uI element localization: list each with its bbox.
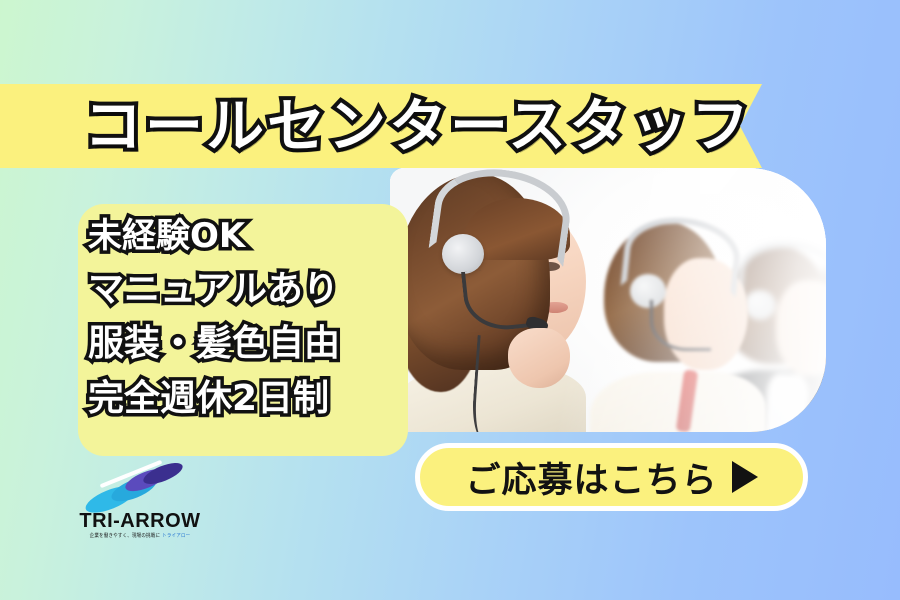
feature-item-2: 服装・髪色自由	[88, 318, 408, 371]
operator-2-figure	[586, 196, 766, 432]
logo-tagline-accent: トライアロー	[162, 532, 190, 539]
company-logo: TRI-ARROW 企業を働きやすく、現場の挑戦に トライアロー	[70, 466, 210, 536]
operator-1-headset-cord	[470, 335, 510, 432]
call-center-photo	[390, 168, 826, 432]
arrow-ellipse-4	[141, 459, 186, 489]
feature-list: 未経験OK マニュアルあり 服装・髪色自由 完全週休2日制	[88, 212, 408, 425]
feature-item-3: 完全週休2日制	[88, 373, 408, 426]
headline-ribbon: コールセンタースタッフ	[0, 84, 762, 168]
logo-wordmark: TRI-ARROW	[70, 510, 210, 533]
page-title: コールセンタースタッフ	[84, 97, 752, 155]
play-triangle-icon	[732, 461, 758, 493]
feature-item-1: マニュアルあり	[88, 264, 408, 317]
operator-1-hand	[508, 328, 570, 388]
operator-3-shirt	[764, 373, 811, 432]
logo-tagline: 企業を働きやすく、現場の挑戦に トライアロー	[72, 532, 208, 540]
operator-1-headset-earcup	[442, 234, 484, 274]
apply-now-button[interactable]: ご応募はこちら	[415, 443, 808, 511]
tri-arrow-mark-icon	[84, 466, 188, 510]
apply-now-label: ご応募はこちら	[465, 452, 717, 503]
logo-tagline-jp: 企業を働きやすく、現場の挑戦に	[90, 532, 161, 539]
recruitment-banner: コールセンタースタッフ 未経験OK マニュアルあり 服装・髪色自由 完全週休2日…	[0, 0, 900, 600]
feature-item-0: 未経験OK	[88, 212, 408, 262]
